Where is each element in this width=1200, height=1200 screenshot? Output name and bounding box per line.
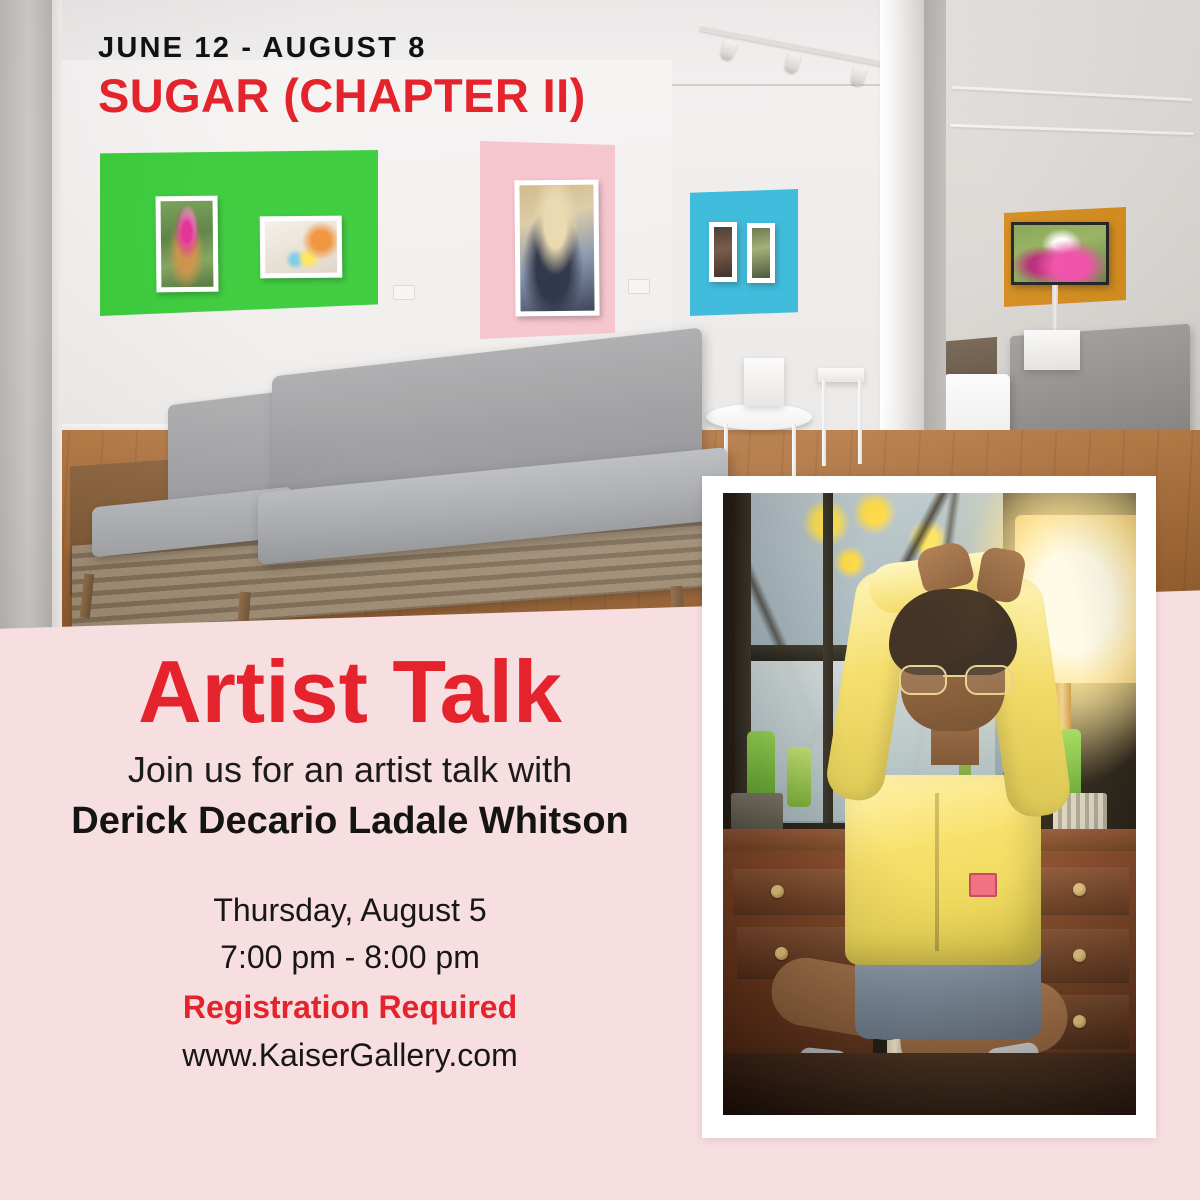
plant-pot — [731, 793, 783, 833]
drawer-knob — [775, 947, 788, 960]
left-wall-column — [0, 0, 52, 645]
drawer-knob — [1073, 883, 1086, 896]
table-leg — [792, 424, 796, 482]
framed-artwork — [709, 222, 737, 282]
eyeglass-lens — [965, 665, 1013, 695]
exhibition-dates: JUNE 12 - AUGUST 8 — [98, 34, 586, 63]
exhibition-title: SUGAR (CHAPTER II) — [98, 71, 586, 122]
spacer — [0, 843, 700, 887]
framed-artwork — [155, 196, 218, 293]
drawer-knob — [771, 885, 784, 898]
event-date: Thursday, August 5 — [0, 887, 700, 933]
framed-artwork — [514, 180, 599, 317]
room-partition-column — [880, 0, 924, 470]
artist-name: Derick Decario Ladale Whitson — [0, 800, 700, 844]
event-heading: Artist Talk — [0, 648, 700, 736]
event-time: 7:00 pm - 8:00 pm — [0, 934, 700, 980]
table-leg — [858, 380, 862, 464]
green-bottle — [787, 747, 811, 807]
poster-canvas: JUNE 12 - AUGUST 8 SUGAR (CHAPTER II) Ar… — [0, 0, 1200, 1200]
portrait-floor — [723, 1053, 1136, 1115]
room-partition-edge — [924, 0, 946, 470]
header-text-block: JUNE 12 - AUGUST 8 SUGAR (CHAPTER II) — [98, 34, 586, 122]
eyeglass-lens — [899, 665, 947, 695]
jacket-logo-patch — [969, 873, 997, 897]
drawer-knob — [1073, 1015, 1086, 1028]
framed-artwork — [260, 216, 343, 279]
left-column-edge — [52, 0, 62, 645]
eyeglasses — [899, 665, 1009, 691]
desk-drawer — [733, 869, 851, 915]
artwork-image — [161, 201, 214, 288]
blue-accent-wall — [690, 189, 798, 316]
event-info-block: Artist Talk Join us for an artist talk w… — [0, 648, 700, 1079]
framed-artwork — [747, 223, 775, 283]
hair — [889, 589, 1017, 675]
jacket-zipper — [935, 793, 939, 951]
artist-portrait-frame — [702, 476, 1156, 1138]
eyeglass-bridge — [943, 675, 965, 677]
display-plinth — [744, 358, 784, 406]
artwork-image — [519, 185, 594, 312]
tv-screen-image — [1014, 225, 1106, 282]
drawer-knob — [1073, 949, 1086, 962]
round-side-table — [706, 404, 812, 430]
artist-portrait-photo — [723, 493, 1136, 1115]
artwork-image — [714, 227, 732, 277]
wall-outlet — [393, 285, 415, 300]
gallery-website[interactable]: www.KaiserGallery.com — [0, 1032, 700, 1078]
wall-outlet — [628, 279, 650, 294]
table-leg — [822, 380, 826, 466]
artwork-image — [265, 221, 338, 274]
artwork-image — [752, 228, 770, 278]
display-plinth — [1024, 330, 1080, 370]
event-subheading: Join us for an artist talk with — [0, 750, 700, 790]
registration-note: Registration Required — [0, 984, 700, 1030]
wall-mounted-tv — [1011, 222, 1109, 285]
